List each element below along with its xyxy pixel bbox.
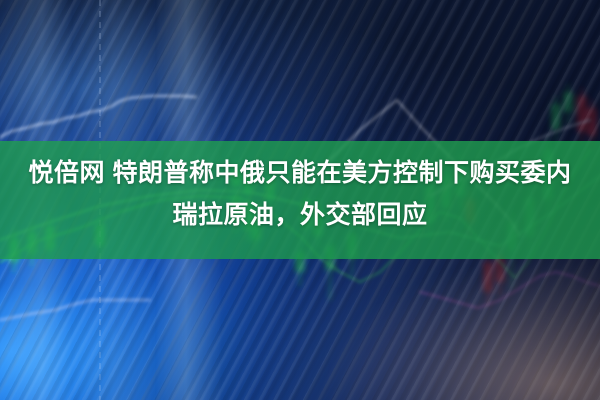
headline-line-1: 悦倍网 特朗普称中俄只能在美方控制下购买委内 xyxy=(0,152,600,194)
headline-text: 悦倍网 特朗普称中俄只能在美方控制下购买委内 瑞拉原油，外交部回应 xyxy=(0,152,600,236)
banner-image: 悦倍网 特朗普称中俄只能在美方控制下购买委内 瑞拉原油，外交部回应 xyxy=(0,0,600,400)
headline-line-2: 瑞拉原油，外交部回应 xyxy=(0,194,600,236)
